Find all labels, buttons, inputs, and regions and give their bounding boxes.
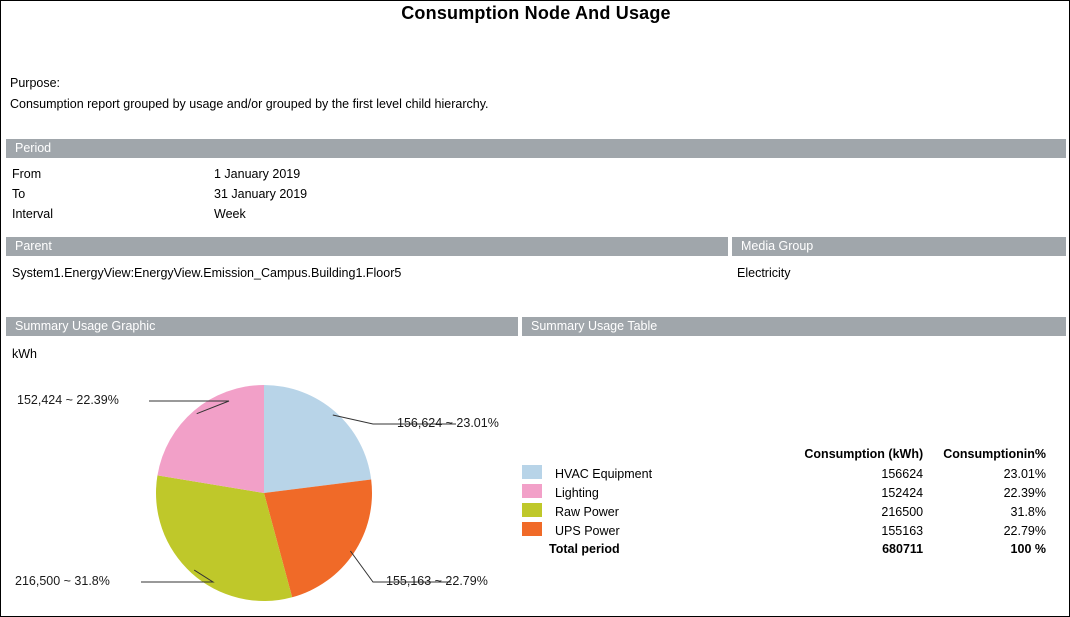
period-interval-value: Week <box>214 207 246 221</box>
legend-color-swatch <box>522 484 542 498</box>
pie-callout-upspower: 155,163 ~ 22.79% <box>386 574 488 588</box>
report-page: Consumption Node And Usage Purpose: Cons… <box>0 0 1070 617</box>
col-swatch <box>522 447 549 464</box>
pie-slices <box>156 385 372 601</box>
section-header-media-group: Media Group <box>732 237 1066 256</box>
table-header-row: Consumption (kWh) Consumptionin% <box>522 447 1052 464</box>
table-total-row: Total period 680711 100 % <box>522 540 1052 557</box>
summary-usage-table: Consumption (kWh) Consumptionin% HVAC Eq… <box>522 447 1066 557</box>
col-consumption: Consumption (kWh) <box>767 447 923 464</box>
pie-callout-hvac: 156,624 ~ 23.01% <box>397 416 499 430</box>
row-name: HVAC Equipment <box>549 464 767 483</box>
row-consumption: 155163 <box>767 521 923 540</box>
legend-swatch-cell <box>522 521 549 540</box>
period-from-value: 1 January 2019 <box>214 167 300 181</box>
section-header-summary-usage-graphic: Summary Usage Graphic <box>6 317 518 336</box>
period-from-label: From <box>12 167 41 181</box>
row-percent: 23.01% <box>923 464 1052 483</box>
legend-swatch-cell <box>522 464 549 483</box>
pie-callout-rawpower: 216,500 ~ 31.8% <box>15 574 110 588</box>
summary-table: Consumption (kWh) Consumptionin% HVAC Eq… <box>522 447 1052 557</box>
table-row: HVAC Equipment15662423.01% <box>522 464 1052 483</box>
pie-callout-lighting: 152,424 ~ 22.39% <box>17 393 119 407</box>
total-percent: 100 % <box>923 540 1052 557</box>
row-percent: 31.8% <box>923 502 1052 521</box>
col-name <box>549 447 767 464</box>
pie-chart: 152,424 ~ 22.39% 156,624 ~ 23.01% 216,50… <box>1 371 521 616</box>
media-group-value: Electricity <box>737 266 790 280</box>
chart-unit-label: kWh <box>12 347 37 361</box>
col-percent: Consumptionin% <box>923 447 1052 464</box>
section-header-parent: Parent <box>6 237 728 256</box>
row-name: UPS Power <box>549 521 767 540</box>
parent-path-value: System1.EnergyView:EnergyView.Emission_C… <box>12 266 401 280</box>
row-consumption: 156624 <box>767 464 923 483</box>
total-swatch-cell <box>522 540 549 557</box>
row-name: Lighting <box>549 483 767 502</box>
legend-swatch-cell <box>522 483 549 502</box>
page-title: Consumption Node And Usage <box>1 3 1070 24</box>
table-row: Raw Power21650031.8% <box>522 502 1052 521</box>
total-consumption: 680711 <box>767 540 923 557</box>
pie-slice-hvac-equipment <box>264 385 371 493</box>
row-name: Raw Power <box>549 502 767 521</box>
table-row: Lighting15242422.39% <box>522 483 1052 502</box>
period-interval-label: Interval <box>12 207 53 221</box>
legend-color-swatch <box>522 503 542 517</box>
purpose-text: Consumption report grouped by usage and/… <box>10 97 489 111</box>
row-consumption: 152424 <box>767 483 923 502</box>
table-body: HVAC Equipment15662423.01%Lighting152424… <box>522 464 1052 540</box>
legend-swatch-cell <box>522 502 549 521</box>
row-percent: 22.39% <box>923 483 1052 502</box>
legend-color-swatch <box>522 522 542 536</box>
legend-color-swatch <box>522 465 542 479</box>
table-row: UPS Power15516322.79% <box>522 521 1052 540</box>
purpose-label: Purpose: <box>10 76 60 90</box>
row-consumption: 216500 <box>767 502 923 521</box>
row-percent: 22.79% <box>923 521 1052 540</box>
section-header-summary-usage-table: Summary Usage Table <box>522 317 1066 336</box>
period-to-label: To <box>12 187 25 201</box>
total-label: Total period <box>549 540 767 557</box>
section-header-period: Period <box>6 139 1066 158</box>
period-to-value: 31 January 2019 <box>214 187 307 201</box>
